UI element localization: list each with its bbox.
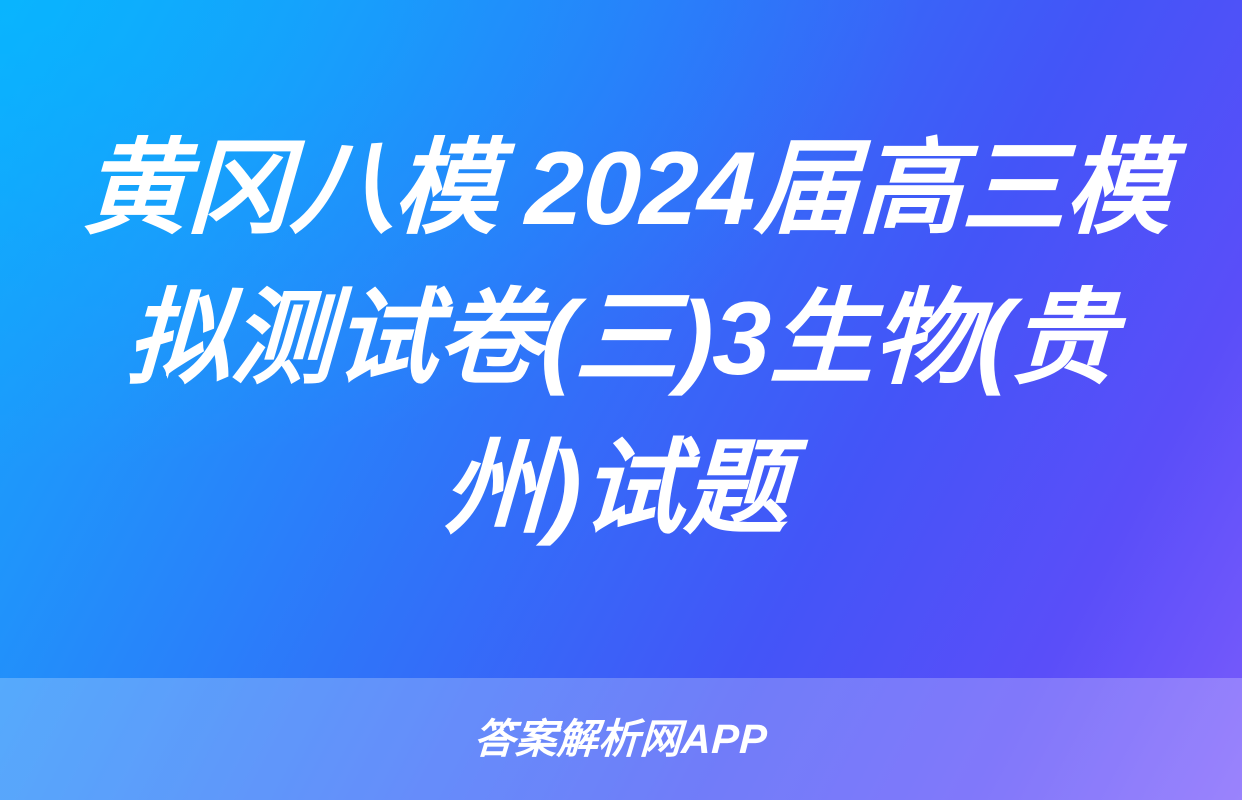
headline-area: 黄冈八模 2024届高三模拟测试卷(三)3生物(贵州)试题 xyxy=(0,0,1242,678)
page-title: 黄冈八模 2024届高三模拟测试卷(三)3生物(贵州)试题 xyxy=(54,114,1188,564)
poster-canvas: 黄冈八模 2024届高三模拟测试卷(三)3生物(贵州)试题 答案解析网APP xyxy=(0,0,1242,800)
watermark-text: 答案解析网APP xyxy=(473,719,768,760)
footer-watermark-band: 答案解析网APP xyxy=(0,678,1242,800)
